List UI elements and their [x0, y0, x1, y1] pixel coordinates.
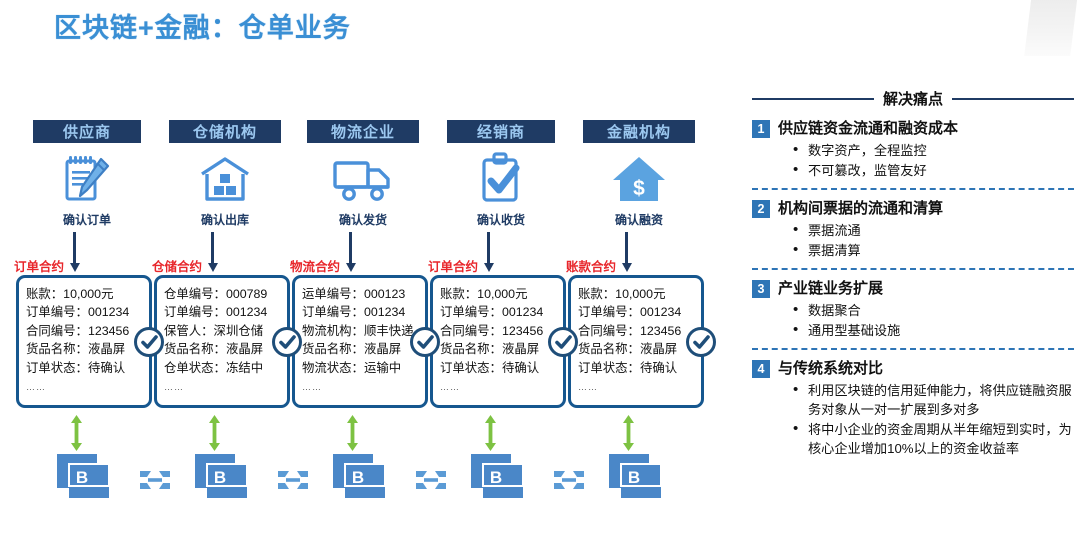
pain-point-badge-2: 2	[752, 200, 770, 218]
verified-check-icon-4	[548, 327, 578, 357]
blockchain-block-4: B	[471, 452, 529, 504]
flow-node-3: 物流企业 确认发货 物流合约 运单编号：000123订单编号：001234物流机…	[288, 120, 438, 228]
card-row: 货品名称：液晶屏	[440, 340, 563, 358]
flow-node-2: 仓储机构 确认出库 仓储合约 仓单编号：000789订单编号：001234保管人…	[150, 120, 300, 228]
pain-point-title-4: 与传统系统对比	[778, 358, 883, 379]
node-action-label-3: 确认发货	[288, 211, 438, 228]
pain-point-badge-1: 1	[752, 120, 770, 138]
pain-point-bullet: 不可篡改，监管友好	[792, 161, 1074, 180]
panel-heading-text: 解决痛点	[883, 88, 943, 109]
node-name-5: 金融机构	[607, 121, 671, 142]
sync-arrow-icon-2	[209, 415, 220, 451]
corner-decoration	[1024, 0, 1078, 56]
verified-check-icon-5	[686, 327, 716, 357]
truck-icon	[288, 149, 438, 209]
card-ellipsis: ……	[164, 382, 287, 392]
node-connector-2	[211, 232, 214, 264]
node-connector-1	[73, 232, 76, 264]
blockchain-block-5: B	[609, 452, 667, 504]
pain-point-title-row-1: 1 供应链资金流通和融资成本	[752, 118, 1074, 139]
card-row: 物流状态：运输中	[302, 359, 425, 377]
notepad-pencil-icon	[12, 149, 162, 209]
pain-points-panel: 解决痛点 1 供应链资金流通和融资成本 数字资产，全程监控不可篡改，监管友好 2…	[752, 88, 1074, 460]
card-row: 订单编号：001234	[440, 303, 563, 321]
flow-node-5: 金融机构 $ 确认融资 账款合约 账款：10,000元订单编号：001234合同…	[564, 120, 714, 228]
sync-arrow-icon-3	[347, 415, 358, 451]
supply-chain-flow-diagram: 供应商	[0, 120, 740, 540]
pain-point-title-row-3: 3 产业链业务扩展	[752, 278, 1074, 299]
pain-point-separator	[752, 348, 1074, 350]
pain-point-bullet: 通用型基础设施	[792, 321, 1074, 340]
card-row: 合同编号：123456	[440, 322, 563, 340]
card-row: 账款：10,000元	[440, 285, 563, 303]
sync-arrow-icon-1	[71, 415, 82, 451]
verified-check-icon-2	[272, 327, 302, 357]
warehouse-icon	[150, 149, 300, 209]
pain-point-badge-4: 4	[752, 360, 770, 378]
pain-point-bullet: 票据流通	[792, 221, 1074, 240]
flow-node-4: 经销商 确认收货 订单合约 账款：10,000元订单编号：001234合同编号：…	[426, 120, 576, 228]
panel-heading: 解决痛点	[752, 88, 1074, 109]
node-name-1: 供应商	[63, 121, 111, 142]
pain-point-separator	[752, 268, 1074, 270]
flow-node-1: 供应商	[12, 120, 162, 228]
card-row: 货品名称：液晶屏	[578, 340, 701, 358]
node-action-label-4: 确认收货	[426, 211, 576, 228]
card-row: 订单状态：待确认	[440, 359, 563, 377]
node-action-label-2: 确认出库	[150, 211, 300, 228]
card-row: 仓单编号：000789	[164, 285, 287, 303]
page-title: 区块链+金融：仓单业务	[54, 6, 351, 45]
card-row: 订单编号：001234	[164, 303, 287, 321]
card-row: 订单状态：待确认	[578, 359, 701, 377]
node-header-3: 物流企业	[307, 120, 419, 143]
card-row: 货品名称：液晶屏	[164, 340, 287, 358]
card-ellipsis: ……	[578, 382, 701, 392]
pain-point-bullets-2: 票据流通票据清算	[792, 221, 1074, 260]
contract-card-1[interactable]: 账款：10,000元订单编号：001234合同编号：123456货品名称：液晶屏…	[16, 275, 152, 408]
card-row: 订单编号：001234	[578, 303, 701, 321]
svg-text:B: B	[352, 468, 364, 487]
svg-text:$: $	[633, 177, 645, 200]
node-header-2: 仓储机构	[169, 120, 281, 143]
svg-text:B: B	[628, 468, 640, 487]
pain-point-bullets-4: 利用区块链的信用延伸能力，将供应链融资服务对象从一对一扩展到多对多将中小企业的资…	[792, 381, 1074, 458]
pain-point-title-row-2: 2 机构间票据的流通和清算	[752, 198, 1074, 219]
pain-point-bullet: 数字资产，全程监控	[792, 141, 1074, 160]
chain-link-icon-1	[139, 470, 171, 490]
verified-check-icon-3	[410, 327, 440, 357]
node-name-4: 经销商	[477, 121, 525, 142]
chain-link-icon-4	[553, 470, 585, 490]
contract-tag-2: 仓储合约	[152, 256, 202, 275]
card-row: 订单状态：待确认	[26, 359, 149, 377]
blockchain-block-2: B	[195, 452, 253, 504]
verified-check-icon-1	[134, 327, 164, 357]
contract-tag-5: 账款合约	[566, 256, 616, 275]
node-name-2: 仓储机构	[193, 121, 257, 142]
node-connector-3	[349, 232, 352, 264]
blockchain-block-1: B	[57, 452, 115, 504]
contract-card-3[interactable]: 运单编号：000123订单编号：001234物流机构：顺丰快递货品名称：液晶屏物…	[292, 275, 428, 408]
node-name-3: 物流企业	[331, 121, 395, 142]
pain-point-badge-3: 3	[752, 280, 770, 298]
contract-tag-1: 订单合约	[14, 256, 64, 275]
node-action-label-5: 确认融资	[564, 211, 714, 228]
card-row: 货品名称：液晶屏	[26, 340, 149, 358]
card-row: 合同编号：123456	[26, 322, 149, 340]
pain-point-bullet: 利用区块链的信用延伸能力，将供应链融资服务对象从一对一扩展到多对多	[792, 381, 1074, 419]
card-ellipsis: ……	[26, 382, 149, 392]
card-row: 物流机构：顺丰快递	[302, 322, 425, 340]
pain-point-title-row-4: 4 与传统系统对比	[752, 358, 1074, 379]
pain-point-bullet: 将中小企业的资金周期从半年缩短到实时，为核心企业增加10%以上的资金收益率	[792, 420, 1074, 458]
contract-tag-3: 物流合约	[290, 256, 340, 275]
pain-point-bullet: 票据清算	[792, 241, 1074, 260]
card-row: 保管人：深圳仓储	[164, 322, 287, 340]
card-row: 账款：10,000元	[26, 285, 149, 303]
pain-point-1: 1 供应链资金流通和融资成本 数字资产，全程监控不可篡改，监管友好	[752, 118, 1074, 180]
svg-text:B: B	[214, 468, 226, 487]
house-dollar-icon: $	[564, 149, 714, 209]
card-row: 账款：10,000元	[578, 285, 701, 303]
pain-point-bullets-3: 数据聚合通用型基础设施	[792, 301, 1074, 340]
contract-card-5[interactable]: 账款：10,000元订单编号：001234合同编号：123456货品名称：液晶屏…	[568, 275, 704, 408]
node-header-1: 供应商	[33, 120, 141, 143]
clipboard-check-icon	[426, 149, 576, 209]
card-row: 货品名称：液晶屏	[302, 340, 425, 358]
heading-rule-left	[752, 98, 874, 100]
card-ellipsis: ……	[302, 382, 425, 392]
pain-point-title-1: 供应链资金流通和融资成本	[778, 118, 958, 139]
node-header-4: 经销商	[447, 120, 555, 143]
card-row: 订单编号：001234	[26, 303, 149, 321]
pain-point-bullets-1: 数字资产，全程监控不可篡改，监管友好	[792, 141, 1074, 180]
heading-rule-right	[952, 98, 1074, 100]
node-header-5: 金融机构	[583, 120, 695, 143]
chain-link-icon-3	[415, 470, 447, 490]
card-row: 运单编号：000123	[302, 285, 425, 303]
blockchain-block-3: B	[333, 452, 391, 504]
svg-text:B: B	[490, 468, 502, 487]
card-row: 仓单状态：冻结中	[164, 359, 287, 377]
pain-point-2: 2 机构间票据的流通和清算 票据流通票据清算	[752, 198, 1074, 260]
contract-tag-4: 订单合约	[428, 256, 478, 275]
pain-point-separator	[752, 188, 1074, 190]
pain-point-title-3: 产业链业务扩展	[778, 278, 883, 299]
pain-point-3: 3 产业链业务扩展 数据聚合通用型基础设施	[752, 278, 1074, 340]
pain-point-title-2: 机构间票据的流通和清算	[778, 198, 943, 219]
chain-link-icon-2	[277, 470, 309, 490]
svg-text:B: B	[76, 468, 88, 487]
card-row: 合同编号：123456	[578, 322, 701, 340]
contract-card-2[interactable]: 仓单编号：000789订单编号：001234保管人：深圳仓储货品名称：液晶屏仓单…	[154, 275, 290, 408]
sync-arrow-icon-4	[485, 415, 496, 451]
pain-point-4: 4 与传统系统对比 利用区块链的信用延伸能力，将供应链融资服务对象从一对一扩展到…	[752, 358, 1074, 458]
contract-card-4[interactable]: 账款：10,000元订单编号：001234合同编号：123456货品名称：液晶屏…	[430, 275, 566, 408]
card-row: 订单编号：001234	[302, 303, 425, 321]
pain-point-bullet: 数据聚合	[792, 301, 1074, 320]
node-connector-4	[487, 232, 490, 264]
card-ellipsis: ……	[440, 382, 563, 392]
node-action-label-1: 确认订单	[12, 211, 162, 228]
sync-arrow-icon-5	[623, 415, 634, 451]
node-connector-5	[625, 232, 628, 264]
